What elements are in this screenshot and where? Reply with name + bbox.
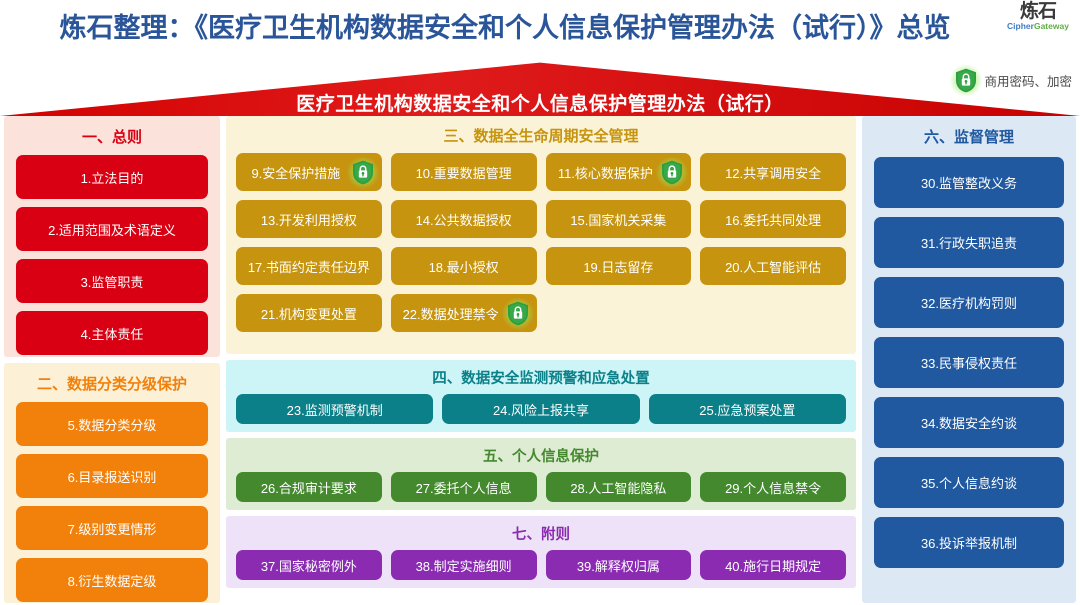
item-39[interactable]: 39.解释权归属 [546, 550, 692, 580]
section-5-grid: 26.合规审计要求 27.委托个人信息 28.人工智能隐私 29.个人信息禁令 [236, 472, 846, 502]
item-label: 2.适用范围及术语定义 [48, 220, 176, 239]
item-10[interactable]: 10.重要数据管理 [391, 153, 537, 191]
item-label: 16.委托共同处理 [725, 210, 821, 229]
item-label: 8.衍生数据定级 [68, 571, 157, 590]
item-label: 36.投诉举报机制 [921, 533, 1017, 552]
item-label: 19.日志留存 [583, 257, 653, 276]
item-34[interactable]: 34.数据安全约谈 [874, 397, 1064, 448]
brand-logo-en-gateway: Gateway [1034, 21, 1069, 31]
item-19[interactable]: 19.日志留存 [546, 247, 692, 285]
item-label: 30.监管整改义务 [921, 173, 1017, 192]
item-18[interactable]: 18.最小授权 [391, 247, 537, 285]
shield-lock-icon [661, 160, 683, 185]
item-29[interactable]: 29.个人信息禁令 [700, 472, 846, 502]
item-label: 23.监测预警机制 [287, 400, 383, 419]
item-label: 10.重要数据管理 [416, 163, 512, 182]
shield-lock-icon [352, 160, 374, 185]
item-1[interactable]: 1.立法目的 [16, 155, 208, 199]
item-3[interactable]: 3.监管职责 [16, 259, 208, 303]
item-label: 15.国家机关采集 [570, 210, 666, 229]
item-label: 24.风险上报共享 [493, 400, 589, 419]
item-label: 27.委托个人信息 [416, 478, 512, 497]
section-title-5: 五、个人信息保护 [236, 445, 846, 466]
item-label: 17.书面约定责任边界 [248, 257, 370, 276]
page-title: 炼石整理：《医疗卫生机构数据安全和个人信息保护管理办法（试行）》总览 [0, 6, 1010, 45]
item-12[interactable]: 12.共享调用安全 [700, 153, 846, 191]
item-27[interactable]: 27.委托个人信息 [391, 472, 537, 502]
item-33[interactable]: 33.民事侵权责任 [874, 337, 1064, 388]
item-label: 7.级别变更情形 [68, 519, 157, 538]
item-22[interactable]: 22.数据处理禁令 [391, 294, 537, 332]
item-label: 37.国家秘密例外 [261, 556, 357, 575]
section-title-7: 七、附则 [236, 523, 846, 544]
item-28[interactable]: 28.人工智能隐私 [546, 472, 692, 502]
item-23[interactable]: 23.监测预警机制 [236, 394, 433, 424]
section-panel-4: 四、数据安全监测预警和应急处置 23.监测预警机制 24.风险上报共享 25.应… [226, 360, 856, 432]
item-label: 5.数据分类分级 [68, 415, 157, 434]
legend: 商用密码、加密 [955, 66, 1072, 94]
item-17[interactable]: 17.书面约定责任边界 [236, 247, 382, 285]
item-label: 3.监管职责 [81, 272, 144, 291]
section-title-2: 二、数据分类分级保护 [16, 373, 208, 394]
section-title-1: 一、总则 [16, 126, 208, 147]
section-panel-2: 二、数据分类分级保护 5.数据分类分级 6.目录报送识别 7.级别变更情形 8.… [4, 363, 220, 603]
item-5[interactable]: 5.数据分类分级 [16, 402, 208, 446]
item-label: 4.主体责任 [81, 324, 144, 343]
title-banner: 医疗卫生机构数据安全和个人信息保护管理办法（试行） [0, 58, 1080, 116]
item-label: 33.民事侵权责任 [921, 353, 1017, 372]
brand-logo-en: CipherGateway [1002, 22, 1074, 31]
item-13[interactable]: 13.开发利用授权 [236, 200, 382, 238]
page-header: 炼石整理：《医疗卫生机构数据安全和个人信息保护管理办法（试行）》总览 炼石 Ci… [0, 0, 1080, 58]
section-7-grid: 37.国家秘密例外 38.制定实施细则 39.解释权归属 40.施行日期规定 [236, 550, 846, 580]
item-21[interactable]: 21.机构变更处置 [236, 294, 382, 332]
section-panel-1: 一、总则 1.立法目的 2.适用范围及术语定义 3.监管职责 4.主体责任 [4, 116, 220, 357]
item-2[interactable]: 2.适用范围及术语定义 [16, 207, 208, 251]
section-title-4: 四、数据安全监测预警和应急处置 [236, 367, 846, 388]
section-4-grid: 23.监测预警机制 24.风险上报共享 25.应急预案处置 [236, 394, 846, 424]
item-label: 1.立法目的 [81, 168, 144, 187]
item-26[interactable]: 26.合规审计要求 [236, 472, 382, 502]
main-content: 一、总则 1.立法目的 2.适用范围及术语定义 3.监管职责 4.主体责任 二、… [0, 116, 1080, 605]
banner-title: 医疗卫生机构数据安全和个人信息保护管理办法（试行） [0, 89, 1080, 116]
item-16[interactable]: 16.委托共同处理 [700, 200, 846, 238]
item-label: 26.合规审计要求 [261, 478, 357, 497]
legend-label: 商用密码、加密 [984, 71, 1072, 90]
item-label: 12.共享调用安全 [725, 163, 821, 182]
brand-logo-cn: 炼石 [1002, 2, 1074, 21]
item-30[interactable]: 30.监管整改义务 [874, 157, 1064, 208]
item-label: 14.公共数据授权 [416, 210, 512, 229]
item-label: 21.机构变更处置 [261, 304, 357, 323]
section-panel-6: 六、监督管理 30.监管整改义务 31.行政失职追责 32.医疗机构罚则 33.… [862, 116, 1076, 603]
section-title-3: 三、数据全生命周期安全管理 [236, 125, 846, 146]
section-3-grid: 9.安全保护措施 10.重要数据管理 11.核心数据保护 12.共享调用安全 1… [236, 153, 846, 332]
item-label: 40.施行日期规定 [725, 556, 821, 575]
item-label: 38.制定实施细则 [416, 556, 512, 575]
item-14[interactable]: 14.公共数据授权 [391, 200, 537, 238]
item-20[interactable]: 20.人工智能评估 [700, 247, 846, 285]
item-label: 6.目录报送识别 [68, 467, 157, 486]
section-panel-7: 七、附则 37.国家秘密例外 38.制定实施细则 39.解释权归属 40.施行日… [226, 516, 856, 588]
item-36[interactable]: 36.投诉举报机制 [874, 517, 1064, 568]
item-label: 34.数据安全约谈 [921, 413, 1017, 432]
shield-lock-icon [955, 68, 977, 93]
item-11[interactable]: 11.核心数据保护 [546, 153, 692, 191]
item-7[interactable]: 7.级别变更情形 [16, 506, 208, 550]
shield-lock-icon [507, 301, 529, 326]
item-24[interactable]: 24.风险上报共享 [442, 394, 639, 424]
item-label: 32.医疗机构罚则 [921, 293, 1017, 312]
brand-logo-en-cipher: Cipher [1007, 21, 1034, 31]
item-31[interactable]: 31.行政失职追责 [874, 217, 1064, 268]
item-label: 31.行政失职追责 [921, 233, 1017, 252]
item-38[interactable]: 38.制定实施细则 [391, 550, 537, 580]
item-15[interactable]: 15.国家机关采集 [546, 200, 692, 238]
section-panel-5: 五、个人信息保护 26.合规审计要求 27.委托个人信息 28.人工智能隐私 2… [226, 438, 856, 510]
item-label: 28.人工智能隐私 [570, 478, 666, 497]
item-label: 29.个人信息禁令 [725, 478, 821, 497]
item-label: 13.开发利用授权 [261, 210, 357, 229]
item-6[interactable]: 6.目录报送识别 [16, 454, 208, 498]
item-9[interactable]: 9.安全保护措施 [236, 153, 382, 191]
item-label: 20.人工智能评估 [725, 257, 821, 276]
item-label: 35.个人信息约谈 [921, 473, 1017, 492]
section-title-6: 六、监督管理 [874, 126, 1064, 147]
item-8[interactable]: 8.衍生数据定级 [16, 558, 208, 602]
item-label: 25.应急预案处置 [699, 400, 795, 419]
item-4[interactable]: 4.主体责任 [16, 311, 208, 355]
section-panel-3: 三、数据全生命周期安全管理 9.安全保护措施 10.重要数据管理 11.核心数据… [226, 116, 856, 354]
item-label: 39.解释权归属 [577, 556, 660, 575]
brand-logo: 炼石 CipherGateway [1002, 2, 1074, 40]
item-37[interactable]: 37.国家秘密例外 [236, 550, 382, 580]
item-25[interactable]: 25.应急预案处置 [649, 394, 846, 424]
item-32[interactable]: 32.医疗机构罚则 [874, 277, 1064, 328]
item-40[interactable]: 40.施行日期规定 [700, 550, 846, 580]
item-label: 18.最小授权 [429, 257, 499, 276]
item-35[interactable]: 35.个人信息约谈 [874, 457, 1064, 508]
